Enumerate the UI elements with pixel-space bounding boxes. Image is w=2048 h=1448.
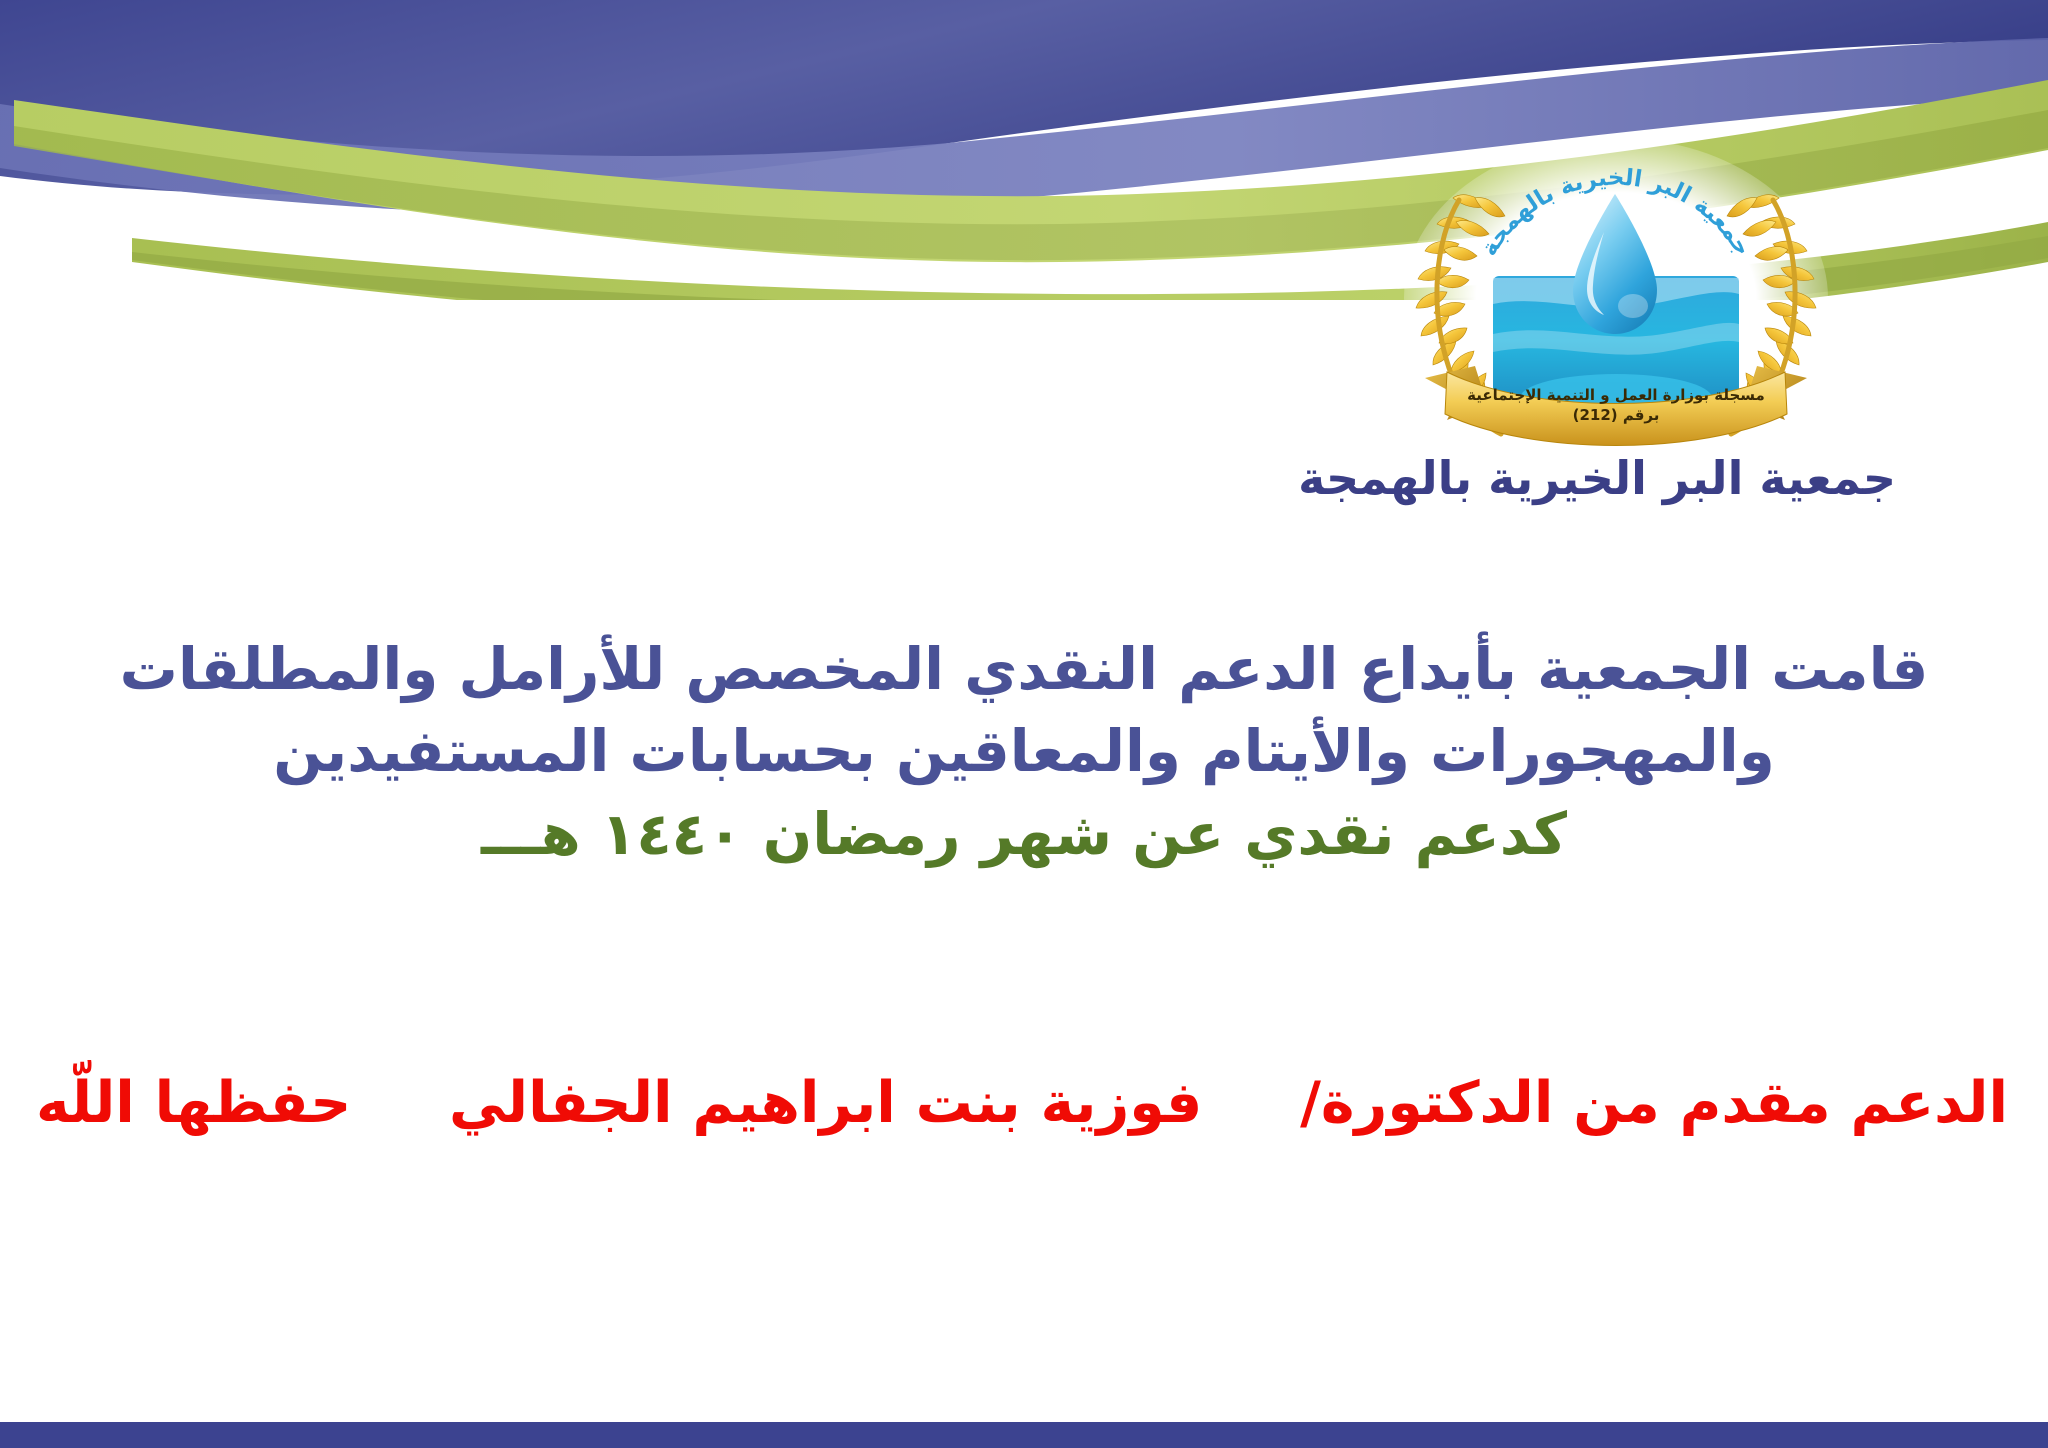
donor-suffix: حفظها اللّه <box>36 1070 351 1136</box>
body-line-2: والمهجورات والأيتام والمعاقين بحسابات ال… <box>60 710 1988 792</box>
body-line-3-date: كدعم نقدي عن شهر رمضان ١٤٤٠ هـــ <box>60 793 1988 875</box>
slide-canvas: جمعية البر الخيرية بالهمجة مسجلة بوزارة … <box>0 0 2048 1448</box>
logo-block: جمعية البر الخيرية بالهمجة مسجلة بوزارة … <box>1336 128 1896 505</box>
announcement-body: قامت الجمعية بأيداع الدعم النقدي المخصص … <box>60 628 1988 875</box>
body-line-1: قامت الجمعية بأيداع الدعم النقدي المخصص … <box>60 628 1988 710</box>
donor-prefix: الدعم مقدم من الدكتورة/ <box>1300 1070 2008 1136</box>
organization-name: جمعية البر الخيرية بالهمجة <box>1336 452 1896 505</box>
donor-name: فوزية بنت ابراهيم الجفالي <box>449 1070 1202 1136</box>
logo-ribbon-line1: مسجلة بوزارة العمل و التنمية الإجتماعية <box>1467 386 1765 404</box>
footer-bar <box>0 1422 2048 1448</box>
logo-ribbon-line2: برقم (212) <box>1573 406 1660 424</box>
charity-logo-icon: جمعية البر الخيرية بالهمجة مسجلة بوزارة … <box>1401 128 1831 458</box>
donor-credit-line: الدعم مقدم من الدكتورة/ فوزية بنت ابراهي… <box>40 1066 2008 1140</box>
